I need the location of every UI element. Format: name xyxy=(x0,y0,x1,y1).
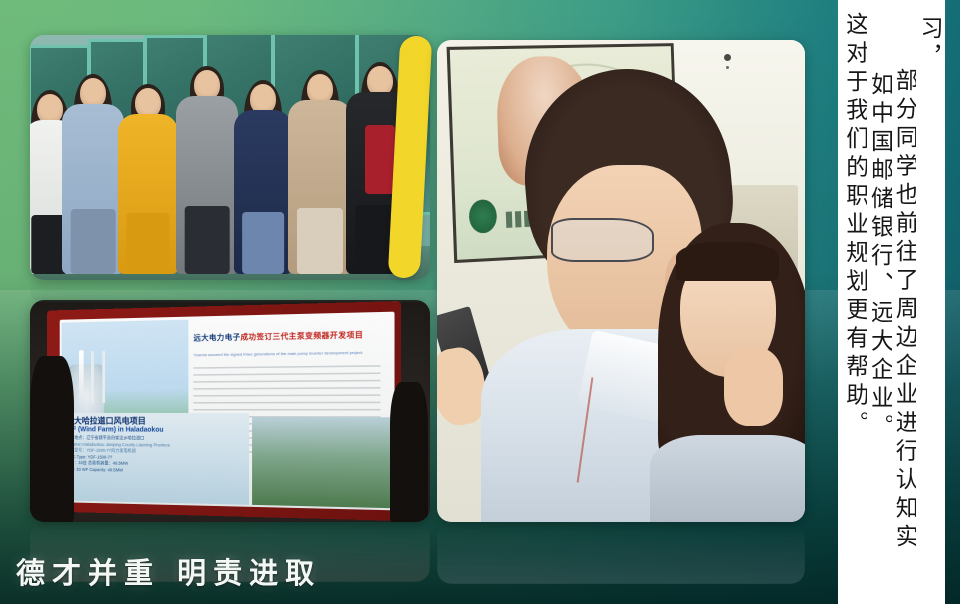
caption-column-3: 如中国邮储银行、远大企业。 xyxy=(867,8,892,596)
caption-column-4: 这对于我们的职业规划更有帮助。 xyxy=(842,8,867,596)
torso xyxy=(288,100,352,274)
legs xyxy=(126,213,169,274)
wind-farm-info-block: 远大哈拉道口风电项目 WF (Wind Farm) in Haladaokou … xyxy=(62,413,249,505)
student-figure-4 xyxy=(234,84,292,274)
legs xyxy=(242,212,284,274)
caption-column-1: 习， xyxy=(916,8,941,596)
legs xyxy=(71,209,116,274)
slide-canvas: 远大电力电子成功签订三代主泵变频器开发项目 Yuanda succeed the… xyxy=(0,0,960,604)
wind-farm-title-cn: 远大哈拉道口风电项目 xyxy=(66,417,244,427)
girl-fringe xyxy=(676,242,779,281)
student-figure-3 xyxy=(176,70,238,274)
visitor-figure-right xyxy=(390,382,428,522)
wind-farm-photo xyxy=(252,417,393,509)
red-shirt xyxy=(365,125,395,194)
display-board: 远大电力电子成功签订三代主泵变频器开发项目 Yuanda succeed the… xyxy=(60,312,395,511)
display-board-frame: 远大电力电子成功签订三代主泵变频器开发项目 Yuanda succeed the… xyxy=(47,301,401,521)
cooling-towers xyxy=(79,351,84,404)
exhibition-poster-photo[interactable]: 远大电力电子成功签订三代主泵变频器开发项目 Yuanda succeed the… xyxy=(30,300,430,522)
power-plant-image xyxy=(69,365,104,419)
wind-farm-row-5: QYT: 33 WF Capacity: 49.5MW xyxy=(66,467,244,476)
student-figure-2 xyxy=(118,88,178,274)
students-photo-content xyxy=(30,35,430,280)
slide-slogan: 德才并重 明责进取 xyxy=(16,550,321,592)
headline-plain-text: 远大电力电子 xyxy=(193,333,240,343)
girl-shirt xyxy=(650,435,805,522)
legs xyxy=(185,206,230,274)
torso xyxy=(234,110,292,274)
headline-red-text: 成功签订三代主泵变频器开发项目 xyxy=(240,330,363,342)
vertical-caption-panel: 习， 部分同学也前往了周边企业进行认知实 如中国邮储银行、远大企业。 这对于我们… xyxy=(838,0,945,604)
torso xyxy=(62,104,124,274)
student-figure-1 xyxy=(62,78,124,274)
torso xyxy=(118,114,178,274)
students-group-photo[interactable] xyxy=(30,35,430,280)
caption-column-2: 部分同学也前往了周边企业进行认知实 xyxy=(892,8,917,596)
student-figure-5 xyxy=(288,74,352,274)
bank-photo-content xyxy=(437,40,805,522)
legs xyxy=(297,208,343,274)
eyeglasses-icon xyxy=(551,218,654,261)
girl-hand-on-cheek xyxy=(724,348,783,425)
poster-subline: Yuanda succeed the signed three generati… xyxy=(193,350,383,358)
bank-visit-photo[interactable] xyxy=(437,40,805,522)
visitor-figure-left xyxy=(30,356,74,522)
torso xyxy=(176,96,238,274)
exhibition-hall-content: 远大电力电子成功签订三代主泵变频器开发项目 Yuanda succeed the… xyxy=(30,300,430,522)
poster-headline: 远大电力电子成功签订三代主泵变频器开发项目 xyxy=(193,330,383,343)
school-building-backdrop xyxy=(30,35,430,280)
bank-logo-icon xyxy=(469,199,497,234)
